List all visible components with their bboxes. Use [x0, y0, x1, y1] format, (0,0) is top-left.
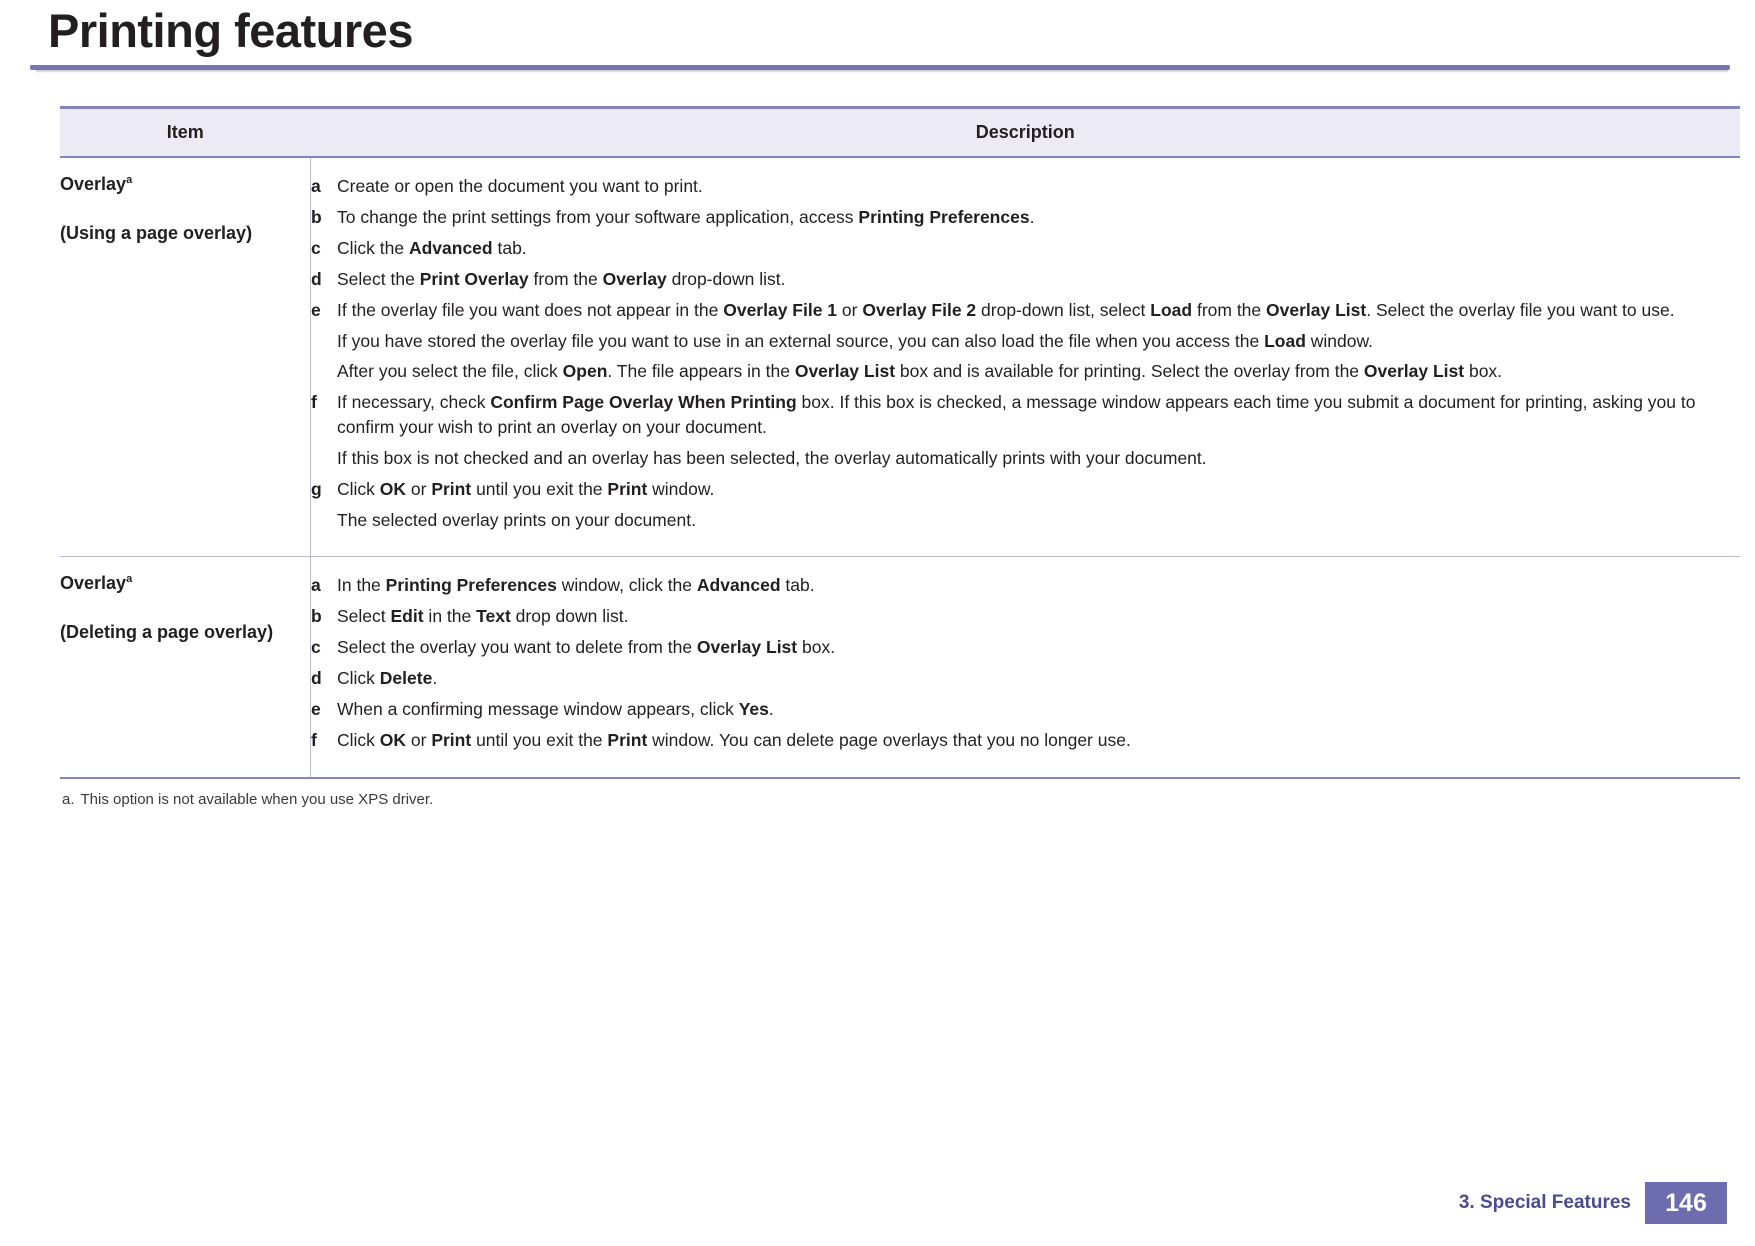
item-name: Overlay [60, 573, 126, 593]
footer-page-number: 146 [1645, 1182, 1727, 1224]
body-text: until you exit the [471, 730, 607, 750]
emphasis-text: Overlay [603, 269, 667, 289]
body-text: Select [337, 606, 391, 626]
body-text: Click [337, 730, 380, 750]
emphasis-text: Overlay List [795, 361, 895, 381]
step-label: c [311, 236, 337, 261]
body-text: If this box is not checked and an overla… [337, 448, 1207, 468]
body-text: box. [797, 637, 835, 657]
step-text: Select the overlay you want to delete fr… [337, 635, 1740, 660]
emphasis-text: Confirm Page Overlay When Printing [490, 392, 796, 412]
item-subtitle: (Deleting a page overlay) [60, 620, 310, 644]
emphasis-text: Printing Preferences [858, 207, 1029, 227]
emphasis-text: Overlay List [1266, 300, 1366, 320]
step-text: In the Printing Preferences window, clic… [337, 573, 1740, 598]
emphasis-text: Text [476, 606, 511, 626]
body-text: drop-down list, select [976, 300, 1150, 320]
footnote-text: This option is not available when you us… [81, 791, 434, 808]
footnote-reference: a [126, 573, 132, 585]
body-text: drop down list. [511, 606, 629, 626]
step-label: b [311, 604, 337, 629]
table-header-row: Item Description [60, 108, 1740, 158]
table-header: Item Description [60, 108, 1740, 158]
step-text: Click Delete. [337, 666, 1740, 691]
step-text: If the overlay file you want does not ap… [337, 298, 1740, 323]
table-body: Overlaya(Using a page overlay)aCreate or… [60, 157, 1740, 777]
table-row: Overlaya(Using a page overlay)aCreate or… [60, 157, 1740, 557]
step-item: dSelect the Print Overlay from the Overl… [311, 267, 1740, 292]
step-item: cSelect the overlay you want to delete f… [311, 635, 1740, 660]
body-text: To change the print settings from your s… [337, 207, 858, 227]
emphasis-text: Yes [739, 699, 769, 719]
step-note: The selected overlay prints on your docu… [337, 508, 1740, 533]
step-label: a [311, 573, 337, 598]
column-header-description: Description [311, 108, 1741, 158]
table-cell-item: Overlaya(Deleting a page overlay) [60, 557, 311, 778]
body-text: window, click the [557, 575, 697, 595]
step-label: g [311, 477, 337, 502]
emphasis-text: Load [1264, 331, 1306, 351]
footnote: a.This option is not available when you … [62, 791, 1725, 808]
body-text: . [769, 699, 774, 719]
step-item: aCreate or open the document you want to… [311, 174, 1740, 199]
emphasis-text: Delete [380, 668, 433, 688]
body-text: . The file appears in the [607, 361, 794, 381]
body-text: If the overlay file you want does not ap… [337, 300, 723, 320]
emphasis-text: Overlay List [1364, 361, 1464, 381]
body-text: from the [1192, 300, 1266, 320]
step-text: Select the Print Overlay from the Overla… [337, 267, 1740, 292]
step-list: aIn the Printing Preferences window, cli… [311, 573, 1740, 752]
emphasis-text: OK [380, 730, 406, 750]
body-text: Create or open the document you want to … [337, 176, 703, 196]
body-text: box. [1464, 361, 1502, 381]
step-item: aIn the Printing Preferences window, cli… [311, 573, 1740, 598]
step-text: Create or open the document you want to … [337, 174, 1740, 199]
step-label: f [311, 390, 337, 415]
body-text: window. [1306, 331, 1373, 351]
step-note: After you select the file, click Open. T… [337, 359, 1740, 384]
title-divider-shadow [36, 70, 1728, 73]
step-text: Click OK or Print until you exit the Pri… [337, 477, 1740, 502]
table-cell-description: aCreate or open the document you want to… [311, 157, 1741, 557]
emphasis-text: Open [563, 361, 608, 381]
step-item: fClick OK or Print until you exit the Pr… [311, 728, 1740, 753]
footer-section-label: 3. Special Features [1459, 1182, 1645, 1224]
body-text: Select the overlay you want to delete fr… [337, 637, 697, 657]
body-text: Click [337, 479, 380, 499]
emphasis-text: Print [431, 730, 471, 750]
step-text: To change the print settings from your s… [337, 205, 1740, 230]
body-text: window. You can delete page overlays tha… [647, 730, 1131, 750]
body-text: If necessary, check [337, 392, 490, 412]
step-text: Click OK or Print until you exit the Pri… [337, 728, 1740, 753]
emphasis-text: Advanced [409, 238, 493, 258]
body-text: Select the [337, 269, 420, 289]
body-text: from the [529, 269, 603, 289]
footnote-reference: a [126, 174, 132, 186]
title-divider [30, 65, 1730, 70]
document-page: Printing features Item Description Overl… [0, 6, 1755, 1246]
item-name: Overlay [60, 174, 126, 194]
emphasis-text: Printing Preferences [386, 575, 557, 595]
step-text: Select Edit in the Text drop down list. [337, 604, 1740, 629]
step-label: b [311, 205, 337, 230]
step-item: cClick the Advanced tab. [311, 236, 1740, 261]
step-text: When a confirming message window appears… [337, 697, 1740, 722]
emphasis-text: Load [1150, 300, 1192, 320]
step-label: c [311, 635, 337, 660]
body-text: . [1030, 207, 1035, 227]
body-text: until you exit the [471, 479, 607, 499]
step-item: bSelect Edit in the Text drop down list. [311, 604, 1740, 629]
body-text: Click [337, 668, 380, 688]
body-text: or [406, 479, 431, 499]
body-text: in the [424, 606, 477, 626]
step-label: d [311, 666, 337, 691]
step-label: e [311, 697, 337, 722]
step-label: f [311, 728, 337, 753]
item-subtitle: (Using a page overlay) [60, 221, 310, 245]
step-label: e [311, 298, 337, 323]
emphasis-text: OK [380, 479, 406, 499]
step-item: fIf necessary, check Confirm Page Overla… [311, 390, 1740, 440]
step-text: Click the Advanced tab. [337, 236, 1740, 261]
emphasis-text: Overlay List [697, 637, 797, 657]
body-text: If you have stored the overlay file you … [337, 331, 1264, 351]
emphasis-text: Overlay File 2 [862, 300, 976, 320]
step-label: a [311, 174, 337, 199]
body-text: When a confirming message window appears… [337, 699, 739, 719]
body-text: or [406, 730, 431, 750]
step-text: If necessary, check Confirm Page Overlay… [337, 390, 1740, 440]
column-header-item: Item [60, 108, 311, 158]
body-text: In the [337, 575, 386, 595]
body-text: tab. [781, 575, 815, 595]
step-label: d [311, 267, 337, 292]
emphasis-text: Print [431, 479, 471, 499]
emphasis-text: Overlay File 1 [723, 300, 837, 320]
table-row: Overlaya(Deleting a page overlay)aIn the… [60, 557, 1740, 778]
step-note: If this box is not checked and an overla… [337, 446, 1740, 471]
body-text: . Select the overlay file you want to us… [1366, 300, 1674, 320]
table-cell-item: Overlaya(Using a page overlay) [60, 157, 311, 557]
step-list: aCreate or open the document you want to… [311, 174, 1740, 532]
step-item: dClick Delete. [311, 666, 1740, 691]
body-text: or [837, 300, 862, 320]
body-text: drop-down list. [667, 269, 786, 289]
body-text: tab. [493, 238, 527, 258]
emphasis-text: Edit [391, 606, 424, 626]
emphasis-text: Print [607, 730, 647, 750]
emphasis-text: Print [607, 479, 647, 499]
body-text: . [432, 668, 437, 688]
footnote-mark: a. [62, 791, 75, 808]
emphasis-text: Advanced [697, 575, 781, 595]
page-footer: 3. Special Features 146 [1459, 1182, 1727, 1224]
body-text: window. [647, 479, 714, 499]
printing-features-table: Item Description Overlaya(Using a page o… [60, 106, 1740, 778]
emphasis-text: Print Overlay [420, 269, 529, 289]
page-title: Printing features [48, 6, 1725, 55]
step-item: bTo change the print settings from your … [311, 205, 1740, 230]
body-text: Click the [337, 238, 409, 258]
table-cell-description: aIn the Printing Preferences window, cli… [311, 557, 1741, 778]
body-text: box and is available for printing. Selec… [895, 361, 1364, 381]
step-note: If you have stored the overlay file you … [337, 329, 1740, 354]
body-text: The selected overlay prints on your docu… [337, 510, 696, 530]
step-item: eIf the overlay file you want does not a… [311, 298, 1740, 323]
step-item: eWhen a confirming message window appear… [311, 697, 1740, 722]
body-text: After you select the file, click [337, 361, 563, 381]
step-item: gClick OK or Print until you exit the Pr… [311, 477, 1740, 502]
